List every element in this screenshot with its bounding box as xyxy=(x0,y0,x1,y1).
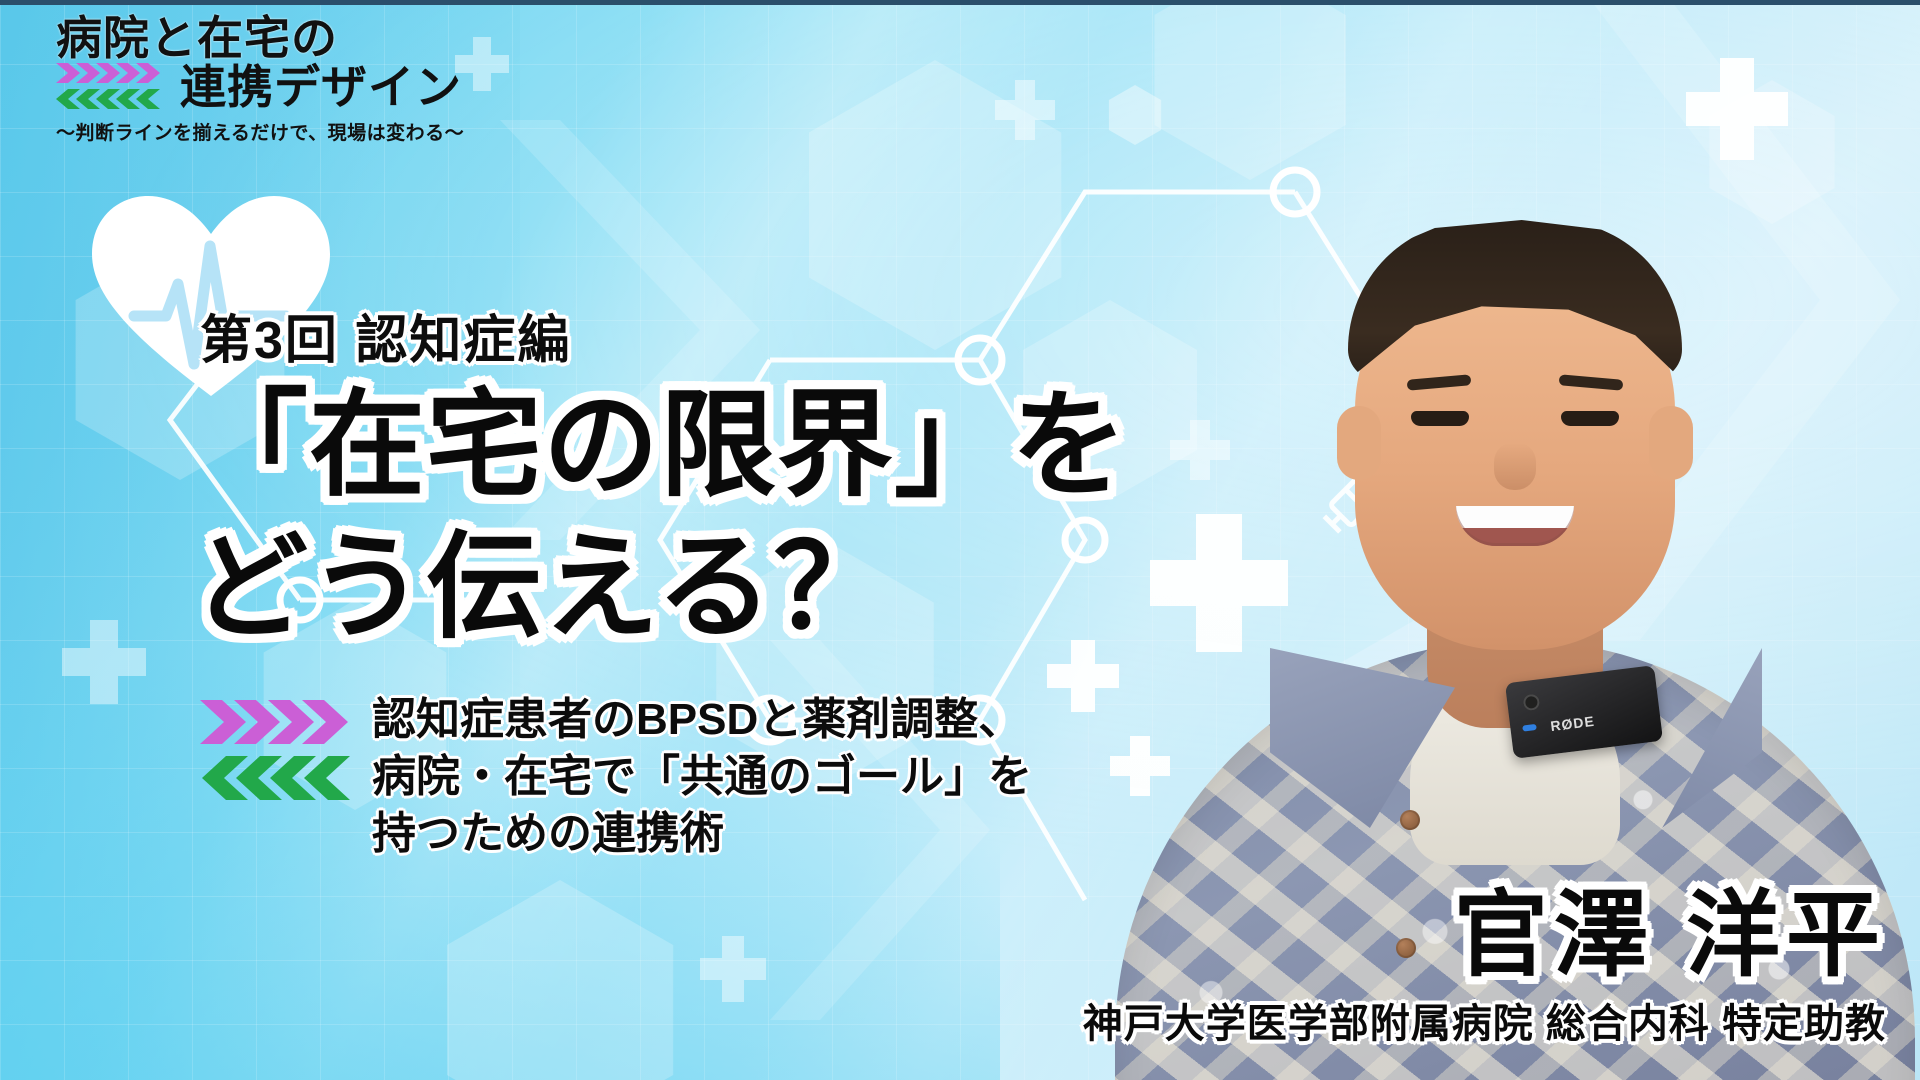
logo-line-1: 病院と在宅の xyxy=(56,14,576,64)
top-edge-bar xyxy=(0,0,1920,5)
shirt-button-lower xyxy=(1396,938,1416,958)
mic-brand-label: RØDE xyxy=(1550,713,1596,734)
shirt-button-upper xyxy=(1400,810,1420,830)
page-title: 「在宅の限界」を どう伝える？ xyxy=(192,375,1252,658)
mic-capsule-icon xyxy=(1523,693,1541,711)
speaker-nose xyxy=(1494,442,1536,490)
speaker-eye-right xyxy=(1561,411,1619,426)
description-line-2: 病院・在宅で「共通のゴール」を xyxy=(372,749,1032,806)
description-lines: 認知症患者のBPSDと薬剤調整、 病院・在宅で「共通のゴール」を 持つための連携… xyxy=(372,690,1032,862)
speaker-ear-left xyxy=(1337,406,1381,480)
description-line-3: 持つための連携術 xyxy=(372,806,1032,863)
thumbnail-canvas: RØDE 病院と在宅の xyxy=(0,0,1920,1080)
logo-chevrons xyxy=(56,62,172,112)
title-line-1: 「在宅の限界」を xyxy=(192,375,1252,517)
description-block: 認知症患者のBPSDと薬剤調整、 病院・在宅で「共通のゴール」を 持つための連携… xyxy=(200,690,1032,862)
episode-label: 第3回 認知症編 xyxy=(200,298,571,373)
speaker-ear-right xyxy=(1649,406,1693,480)
speaker-eye-left xyxy=(1411,411,1469,426)
speaker-affiliation: 神戸大学医学部附属病院 総合内科 特定助教 xyxy=(1083,1004,1886,1044)
logo-tagline: 〜判断ラインを揃えるだけで、現場は変わる〜 xyxy=(56,118,576,145)
program-logo: 病院と在宅の xyxy=(56,14,576,145)
description-line-1: 認知症患者のBPSDと薬剤調整、 xyxy=(372,692,1032,749)
speaker-name: 官澤 洋平 xyxy=(1454,888,1886,982)
title-line-2: どう伝える？ xyxy=(192,517,1252,659)
mic-led-icon xyxy=(1522,724,1537,732)
logo-line-2: 連携デザイン xyxy=(180,63,462,111)
description-chevrons xyxy=(200,698,350,806)
